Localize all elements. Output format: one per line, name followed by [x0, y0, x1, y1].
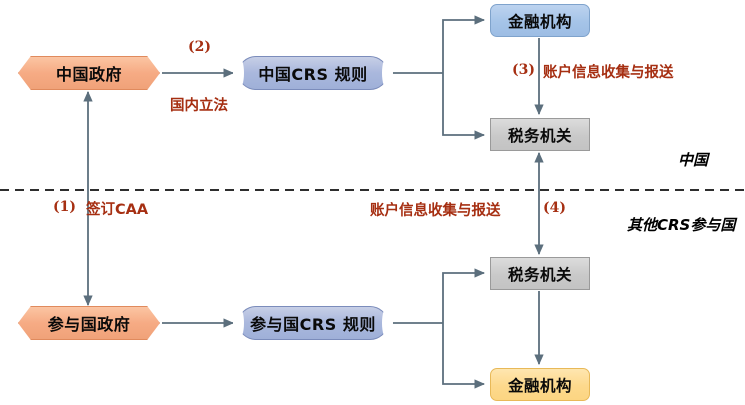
edge-pt-rule-to-pt-fi: [443, 323, 484, 384]
edge-label-step1-text: 签订CAA: [86, 198, 148, 219]
edge-pt-rule-to-pt-tax: [443, 273, 484, 323]
region-label-other-crs-countries: 其他CRS参与国: [627, 214, 735, 235]
node-china-crs-rule-label: 中国CRS 规则: [258, 61, 367, 85]
crs-flow-diagram: 中国政府 中国CRS 规则 金融机构 税务机关 参与国政府 参与国CRS 规则 …: [0, 0, 745, 405]
edge-label-step4-text: 账户信息收集与报送: [370, 199, 501, 220]
edge-cn-rule-to-cn-tax: [443, 73, 484, 135]
node-china-government-label: 中国政府: [56, 61, 122, 85]
node-china-financial-institution-label: 金融机构: [508, 10, 572, 32]
region-label-china: 中国: [678, 149, 708, 170]
node-participant-tax-authority[interactable]: 税务机关: [490, 257, 590, 290]
node-participant-tax-authority-label: 税务机关: [508, 263, 572, 285]
edge-label-step3-number: (3): [512, 62, 535, 78]
node-china-tax-authority-label: 税务机关: [508, 124, 572, 146]
edge-label-step4-number: (4): [543, 200, 566, 216]
node-china-government[interactable]: 中国政府: [18, 56, 160, 90]
node-participant-crs-rule-label: 参与国CRS 规则: [250, 311, 376, 335]
node-china-financial-institution[interactable]: 金融机构: [490, 4, 590, 37]
node-participant-financial-institution[interactable]: 金融机构: [490, 368, 590, 401]
node-participant-government-label: 参与国政府: [48, 311, 131, 335]
node-participant-government[interactable]: 参与国政府: [18, 306, 160, 340]
node-participant-crs-rule[interactable]: 参与国CRS 规则: [238, 306, 388, 340]
edge-label-step2-text: 国内立法: [170, 94, 228, 115]
node-china-tax-authority[interactable]: 税务机关: [490, 118, 590, 151]
edge-cn-rule-to-cn-fi: [443, 20, 484, 73]
edge-label-step2-number: (2): [188, 39, 211, 55]
edge-label-step1-number: (1): [53, 199, 76, 215]
node-participant-financial-institution-label: 金融机构: [508, 374, 572, 396]
edge-label-step3-text: 账户信息收集与报送: [543, 61, 674, 82]
node-china-crs-rule[interactable]: 中国CRS 规则: [238, 56, 388, 90]
